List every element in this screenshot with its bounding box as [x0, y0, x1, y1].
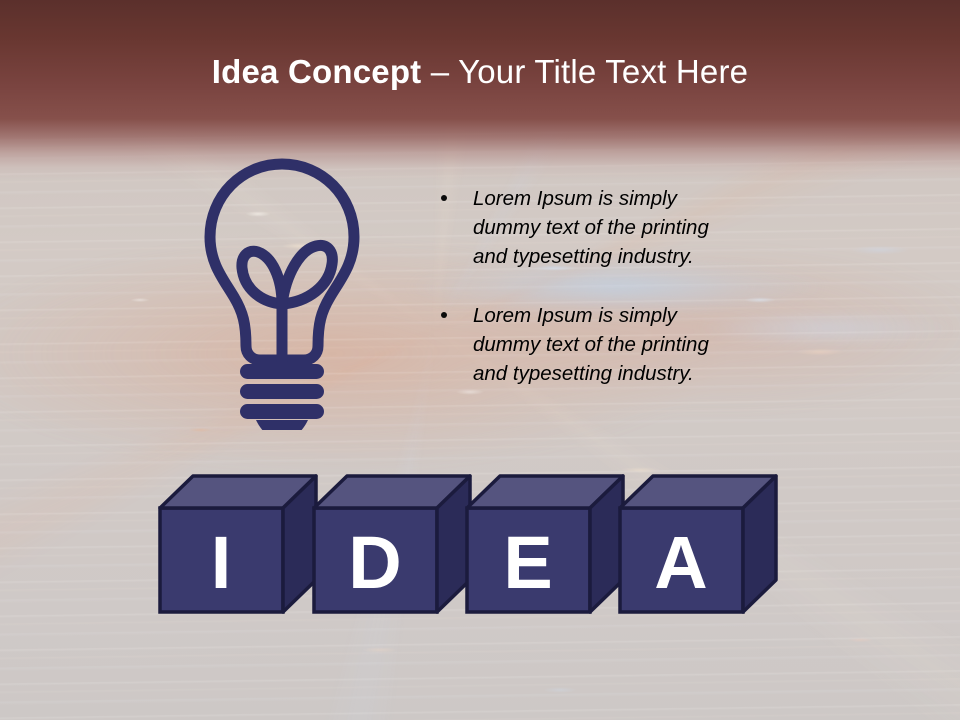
bullet-line: and typesetting industry. — [473, 242, 856, 271]
bullet-line: dummy text of the printing — [473, 330, 856, 359]
page-title: Idea Concept – Your Title Text Here — [0, 50, 960, 94]
bullet-line: Lorem Ipsum is simply — [473, 184, 856, 213]
list-item: Lorem Ipsum is simply dummy text of the … — [436, 301, 856, 388]
bullet-line: and typesetting industry. — [473, 359, 856, 388]
bullet-dot-icon — [441, 312, 447, 318]
light-bulb-icon — [198, 152, 366, 430]
bullet-dot-icon — [441, 195, 447, 201]
slide-canvas: Idea Concept – Your Title Text Here — [0, 0, 960, 720]
page-title-rest: – Your Title Text Here — [421, 53, 748, 90]
bullet-line: Lorem Ipsum is simply — [473, 301, 856, 330]
list-item: Lorem Ipsum is simply dummy text of the … — [436, 184, 856, 271]
bullet-line: dummy text of the printing — [473, 213, 856, 242]
page-title-strong: Idea Concept — [212, 53, 422, 90]
bullet-list: Lorem Ipsum is simply dummy text of the … — [436, 184, 856, 388]
